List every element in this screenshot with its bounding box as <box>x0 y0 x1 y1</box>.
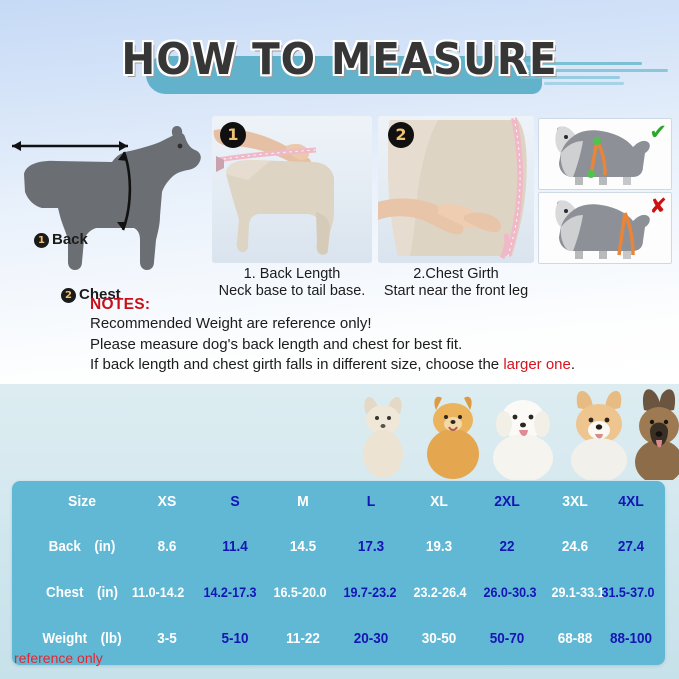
notes-highlight: larger one <box>503 356 571 373</box>
pomeranian-photo <box>427 397 479 479</box>
back-measurement-label: 1Back <box>34 231 88 248</box>
table-row: Back (in) 8.6 11.4 14.5 17.3 19.3 22 24.… <box>12 531 665 569</box>
table-row: Weight (lb) 3-5 5-10 11-22 20-30 30-50 5… <box>12 623 665 661</box>
cell-weight-m: 11-22 <box>269 631 338 647</box>
step-1-caption-line1: 1. Back Length <box>212 266 372 283</box>
table-row: Chest (in) 11.0-14.2 14.2-17.3 16.5-20.0… <box>12 577 665 615</box>
cell-weight-xs: 3-5 <box>133 631 202 647</box>
checkmark-icon: ✔ <box>649 120 667 144</box>
dog-lineup-photos <box>348 384 679 480</box>
cell-chest-2xl: 26.0-30.3 <box>471 585 549 600</box>
cell-back-4xl: 27.4 <box>597 539 666 555</box>
cell-weight-xl: 30-50 <box>405 631 474 647</box>
notes-line-3-suffix: . <box>571 356 575 373</box>
size-chart-table: Size XS S M L XL 2XL 3XL 4XL Back (in) 8… <box>12 481 665 665</box>
cell-chest-l: 19.7-23.2 <box>331 585 409 600</box>
step-2-caption: 2.Chest Girth Start near the front leg <box>378 266 534 300</box>
notes-line-2: Please measure dog's back length and che… <box>90 335 670 356</box>
cell-chest-s: 14.2-17.3 <box>191 585 269 600</box>
notes-title: NOTES: <box>90 296 670 314</box>
step-1-badge: 1 <box>220 122 246 148</box>
back-label-text: Back <box>52 231 88 248</box>
cell-back-2xl: 22 <box>473 539 542 555</box>
row-label-back: Back (in) <box>26 539 138 555</box>
chihuahua-photo <box>363 397 403 478</box>
cell-back-m: 14.5 <box>269 539 338 555</box>
step-2-caption-line1: 2.Chest Girth <box>378 266 534 283</box>
cell-chest-xl: 23.2-26.4 <box>401 585 479 600</box>
cell-size-4xl: 4XL <box>597 493 666 510</box>
dog-silhouette-diagram: 1Back 2Chest <box>4 112 210 282</box>
cell-size-xl: XL <box>405 493 474 510</box>
cell-weight-l: 20-30 <box>337 631 406 647</box>
correct-fit-photo: ✔ <box>538 118 672 190</box>
cell-size-xs: XS <box>133 493 202 510</box>
silhouette-svg <box>4 112 210 282</box>
row-label-weight: Weight (lb) <box>26 631 138 647</box>
german-shepherd-photo <box>635 389 679 480</box>
notes-line-3-prefix: If back length and chest girth falls in … <box>90 356 503 373</box>
chest-badge: 2 <box>61 288 76 303</box>
cell-weight-4xl: 88-100 <box>597 631 666 647</box>
cell-back-xl: 19.3 <box>405 539 474 555</box>
title-block: HOW TO MEASURE <box>0 34 679 100</box>
back-length-photo: 1 <box>212 116 372 263</box>
cell-weight-s: 5-10 <box>201 631 270 647</box>
row-label-size: Size <box>26 493 138 510</box>
corgi-photo <box>571 391 627 480</box>
cell-size-l: L <box>337 493 406 510</box>
back-badge: 1 <box>34 233 49 248</box>
chest-girth-photo: 2 <box>378 116 534 263</box>
table-row: Size XS S M L XL 2XL 3XL 4XL <box>12 485 665 523</box>
notes-line-1: Recommended Weight are reference only! <box>90 314 670 335</box>
step-2-badge: 2 <box>388 122 414 148</box>
top-section: HOW TO MEASURE 1Back 2Chest <box>0 0 679 382</box>
notes-line-3: If back length and chest girth falls in … <box>90 355 670 376</box>
table-footnote: reference only <box>14 650 103 666</box>
notes-block: NOTES: Recommended Weight are reference … <box>90 296 670 376</box>
cell-size-2xl: 2XL <box>473 493 542 510</box>
cell-chest-4xl: 31.5-37.0 <box>589 585 667 600</box>
cell-back-xs: 8.6 <box>133 539 202 555</box>
cross-icon: ✘ <box>649 194 667 218</box>
cell-back-s: 11.4 <box>201 539 270 555</box>
cell-size-s: S <box>201 493 270 510</box>
cell-weight-2xl: 50-70 <box>473 631 542 647</box>
bichon-photo <box>493 400 553 480</box>
page-title: HOW TO MEASURE <box>27 34 652 85</box>
incorrect-fit-photo: ✘ <box>538 192 672 264</box>
step-1-caption: 1. Back Length Neck base to tail base. <box>212 266 372 300</box>
cell-back-l: 17.3 <box>337 539 406 555</box>
cell-chest-xs: 11.0-14.2 <box>119 585 197 600</box>
cell-chest-m: 16.5-20.0 <box>261 585 339 600</box>
cell-size-m: M <box>269 493 338 510</box>
